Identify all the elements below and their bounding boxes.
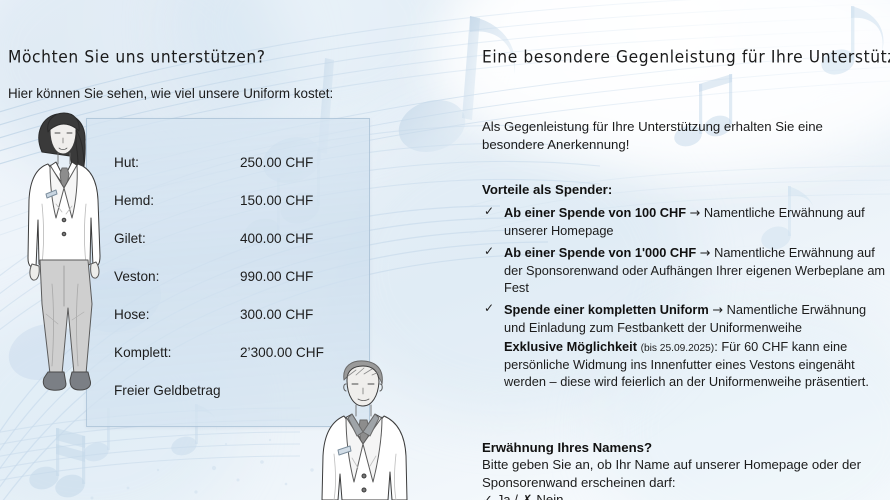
benefit-bold: Ab einer Spende von 100 CHF (504, 205, 686, 220)
price-value: 300.00 CHF (222, 307, 374, 322)
price-value: 150.00 CHF (222, 193, 374, 208)
benefits-title: Vorteile als Spender: (482, 182, 612, 197)
price-value: 2’300.00 CHF (222, 345, 374, 360)
arrow-icon: → (690, 206, 701, 221)
price-label: Hose: (114, 307, 222, 322)
exclusive-offer-deadline: (bis 25.09.2025) (641, 343, 715, 354)
right-intro-text: Als Gegenleistung für Ihre Unterstützung… (482, 118, 834, 154)
left-subheading: Hier können Sie sehen, wie viel unsere U… (8, 86, 333, 101)
price-value: 250.00 CHF (222, 155, 374, 170)
arrow-icon: → (712, 303, 723, 318)
price-row: Gilet: 400.00 CHF (114, 231, 374, 269)
price-label: Hemd: (114, 193, 222, 208)
price-row: Veston: 990.00 CHF (114, 269, 374, 307)
price-row: Komplett: 2’300.00 CHF (114, 345, 374, 383)
mention-text: Bitte geben Sie an, ob Ihr Name auf unse… (482, 456, 886, 491)
price-row: Hemd: 150.00 CHF (114, 193, 374, 231)
free-amount-label: Freier Geldbetrag (114, 383, 221, 398)
benefit-bold: Spende einer kompletten Uniform (504, 302, 709, 317)
check-icon: ✓ (484, 244, 494, 260)
price-label: Gilet: (114, 231, 222, 246)
price-label: Komplett: (114, 345, 222, 360)
slide-canvas: Möchten Sie uns unterstützen? Hier könne… (0, 0, 890, 500)
price-label: Hut: (114, 155, 222, 170)
arrow-icon: → (700, 246, 711, 261)
name-mention-section: Erwähnung Ihres Namens? Bitte geben Sie … (482, 440, 886, 500)
benefit-item: ✓ Ab einer Spende von 1'000 CHF → Nament… (482, 244, 886, 296)
benefits-list: ✓ Ab einer Spende von 100 CHF → Namentli… (482, 204, 886, 395)
price-label: Veston: (114, 269, 222, 284)
price-row: Hose: 300.00 CHF (114, 307, 374, 345)
price-value: 990.00 CHF (222, 269, 374, 284)
check-icon: ✓ (484, 301, 494, 317)
mention-title: Erwähnung Ihres Namens? (482, 440, 886, 455)
price-value: 400.00 CHF (222, 231, 374, 246)
mention-answer-options: ✓ Ja / ✗ Nein (482, 492, 886, 500)
benefit-item: ✓ Ab einer Spende von 100 CHF → Namentli… (482, 204, 886, 239)
benefit-bold: Ab einer Spende von 1'000 CHF (504, 245, 696, 260)
check-icon: ✓ (484, 204, 494, 220)
price-row-free-amount: Freier Geldbetrag (114, 383, 374, 421)
price-list: Hut: 250.00 CHF Hemd: 150.00 CHF Gilet: … (114, 155, 374, 421)
exclusive-offer: Exklusive Möglichkeit (bis 25.09.2025): … (504, 338, 886, 390)
benefit-item: ✓ Spende einer kompletten Uniform → Name… (482, 301, 886, 390)
right-heading: Eine besondere Gegenleistung für Ihre Un… (482, 47, 890, 66)
price-row: Hut: 250.00 CHF (114, 155, 374, 193)
exclusive-offer-bold: Exklusive Möglichkeit (504, 339, 637, 354)
left-heading: Möchten Sie uns unterstützen? (8, 47, 266, 66)
